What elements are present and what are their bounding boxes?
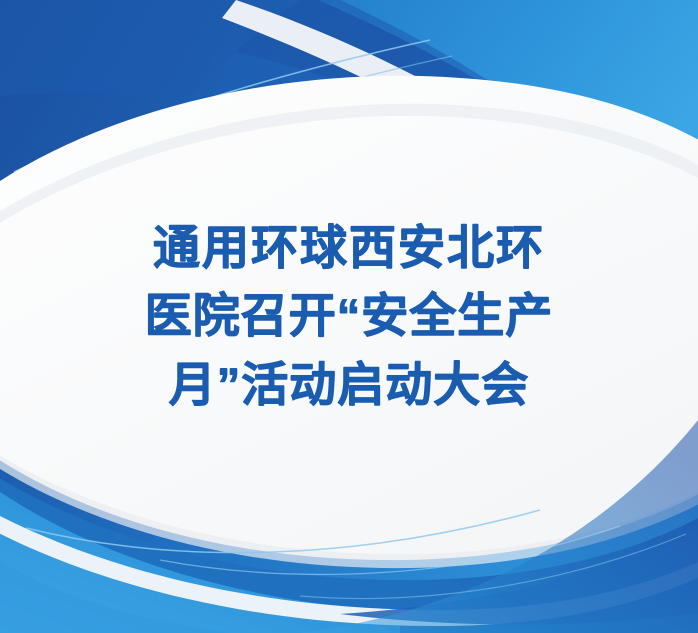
poster-banner: 通用环球西安北环 医院召开“安全生产 月”活动启动大会 — [0, 0, 698, 633]
background-graphic — [0, 0, 698, 633]
